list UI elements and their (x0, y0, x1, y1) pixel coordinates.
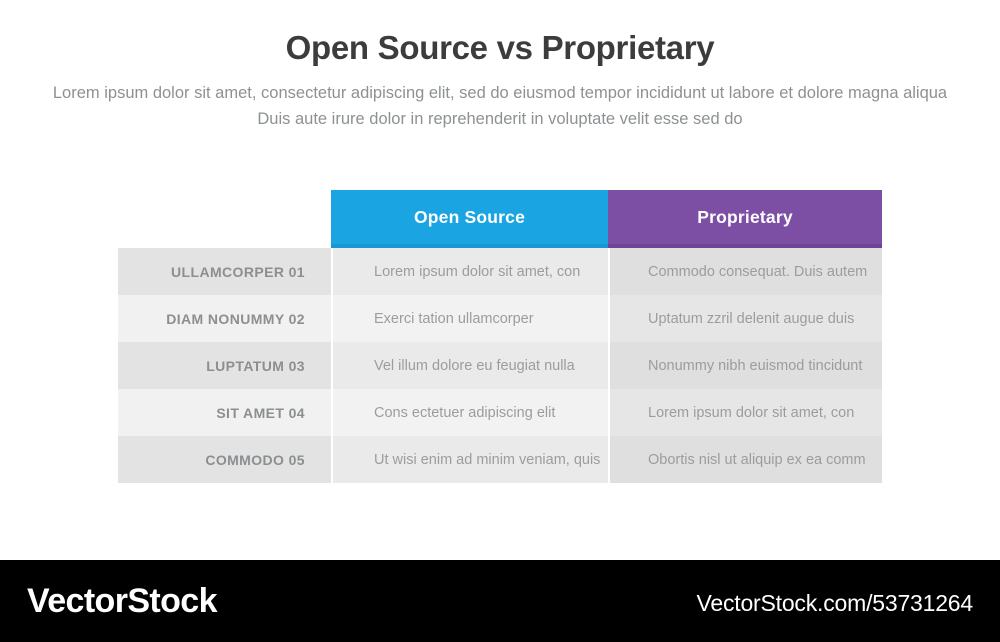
table-row: LUPTATUM 03 Vel illum dolore eu feugiat … (118, 342, 882, 389)
cell-open-source: Vel illum dolore eu feugiat nulla (333, 342, 608, 389)
page-title: Open Source vs Proprietary (0, 28, 1000, 68)
row-label: SIT AMET 04 (118, 389, 331, 436)
comparison-table: Open Source Proprietary ULLAMCORPER 01 L… (118, 190, 882, 483)
cell-proprietary: Commodo consequat. Duis autem (610, 248, 882, 295)
table-header-row: Open Source Proprietary (118, 190, 882, 248)
row-label: LUPTATUM 03 (118, 342, 331, 389)
table-row: COMMODO 05 Ut wisi enim ad minim veniam,… (118, 436, 882, 483)
infographic-canvas: Open Source vs Proprietary Lorem ipsum d… (0, 0, 1000, 560)
cell-proprietary: Uptatum zzril delenit augue duis (610, 295, 882, 342)
table-header-proprietary: Proprietary (608, 190, 882, 248)
vectorstock-url: VectorStock.com/53731264 (697, 590, 974, 617)
vectorstock-logo: VectorStock (27, 582, 217, 621)
cell-open-source: Lorem ipsum dolor sit amet, con (333, 248, 608, 295)
cell-open-source: Cons ectetuer adipiscing elit (333, 389, 608, 436)
table-body: ULLAMCORPER 01 Lorem ipsum dolor sit ame… (118, 248, 882, 483)
row-label: DIAM NONUMMY 02 (118, 295, 331, 342)
cell-open-source: Exerci tation ullamcorper (333, 295, 608, 342)
watermark-bar: VectorStock VectorStock.com/53731264 (0, 560, 1000, 642)
table-header-spacer (118, 190, 331, 248)
table-row: ULLAMCORPER 01 Lorem ipsum dolor sit ame… (118, 248, 882, 295)
table-row: DIAM NONUMMY 02 Exerci tation ullamcorpe… (118, 295, 882, 342)
cell-proprietary: Nonummy nibh euismod tincidunt (610, 342, 882, 389)
page-subtitle: Lorem ipsum dolor sit amet, consectetur … (50, 80, 950, 132)
table-header-open-source: Open Source (331, 190, 608, 248)
cell-proprietary: Lorem ipsum dolor sit amet, con (610, 389, 882, 436)
cell-open-source: Ut wisi enim ad minim veniam, quis (333, 436, 608, 483)
row-label: ULLAMCORPER 01 (118, 248, 331, 295)
table-row: SIT AMET 04 Cons ectetuer adipiscing eli… (118, 389, 882, 436)
row-label: COMMODO 05 (118, 436, 331, 483)
cell-proprietary: Obortis nisl ut aliquip ex ea comm (610, 436, 882, 483)
